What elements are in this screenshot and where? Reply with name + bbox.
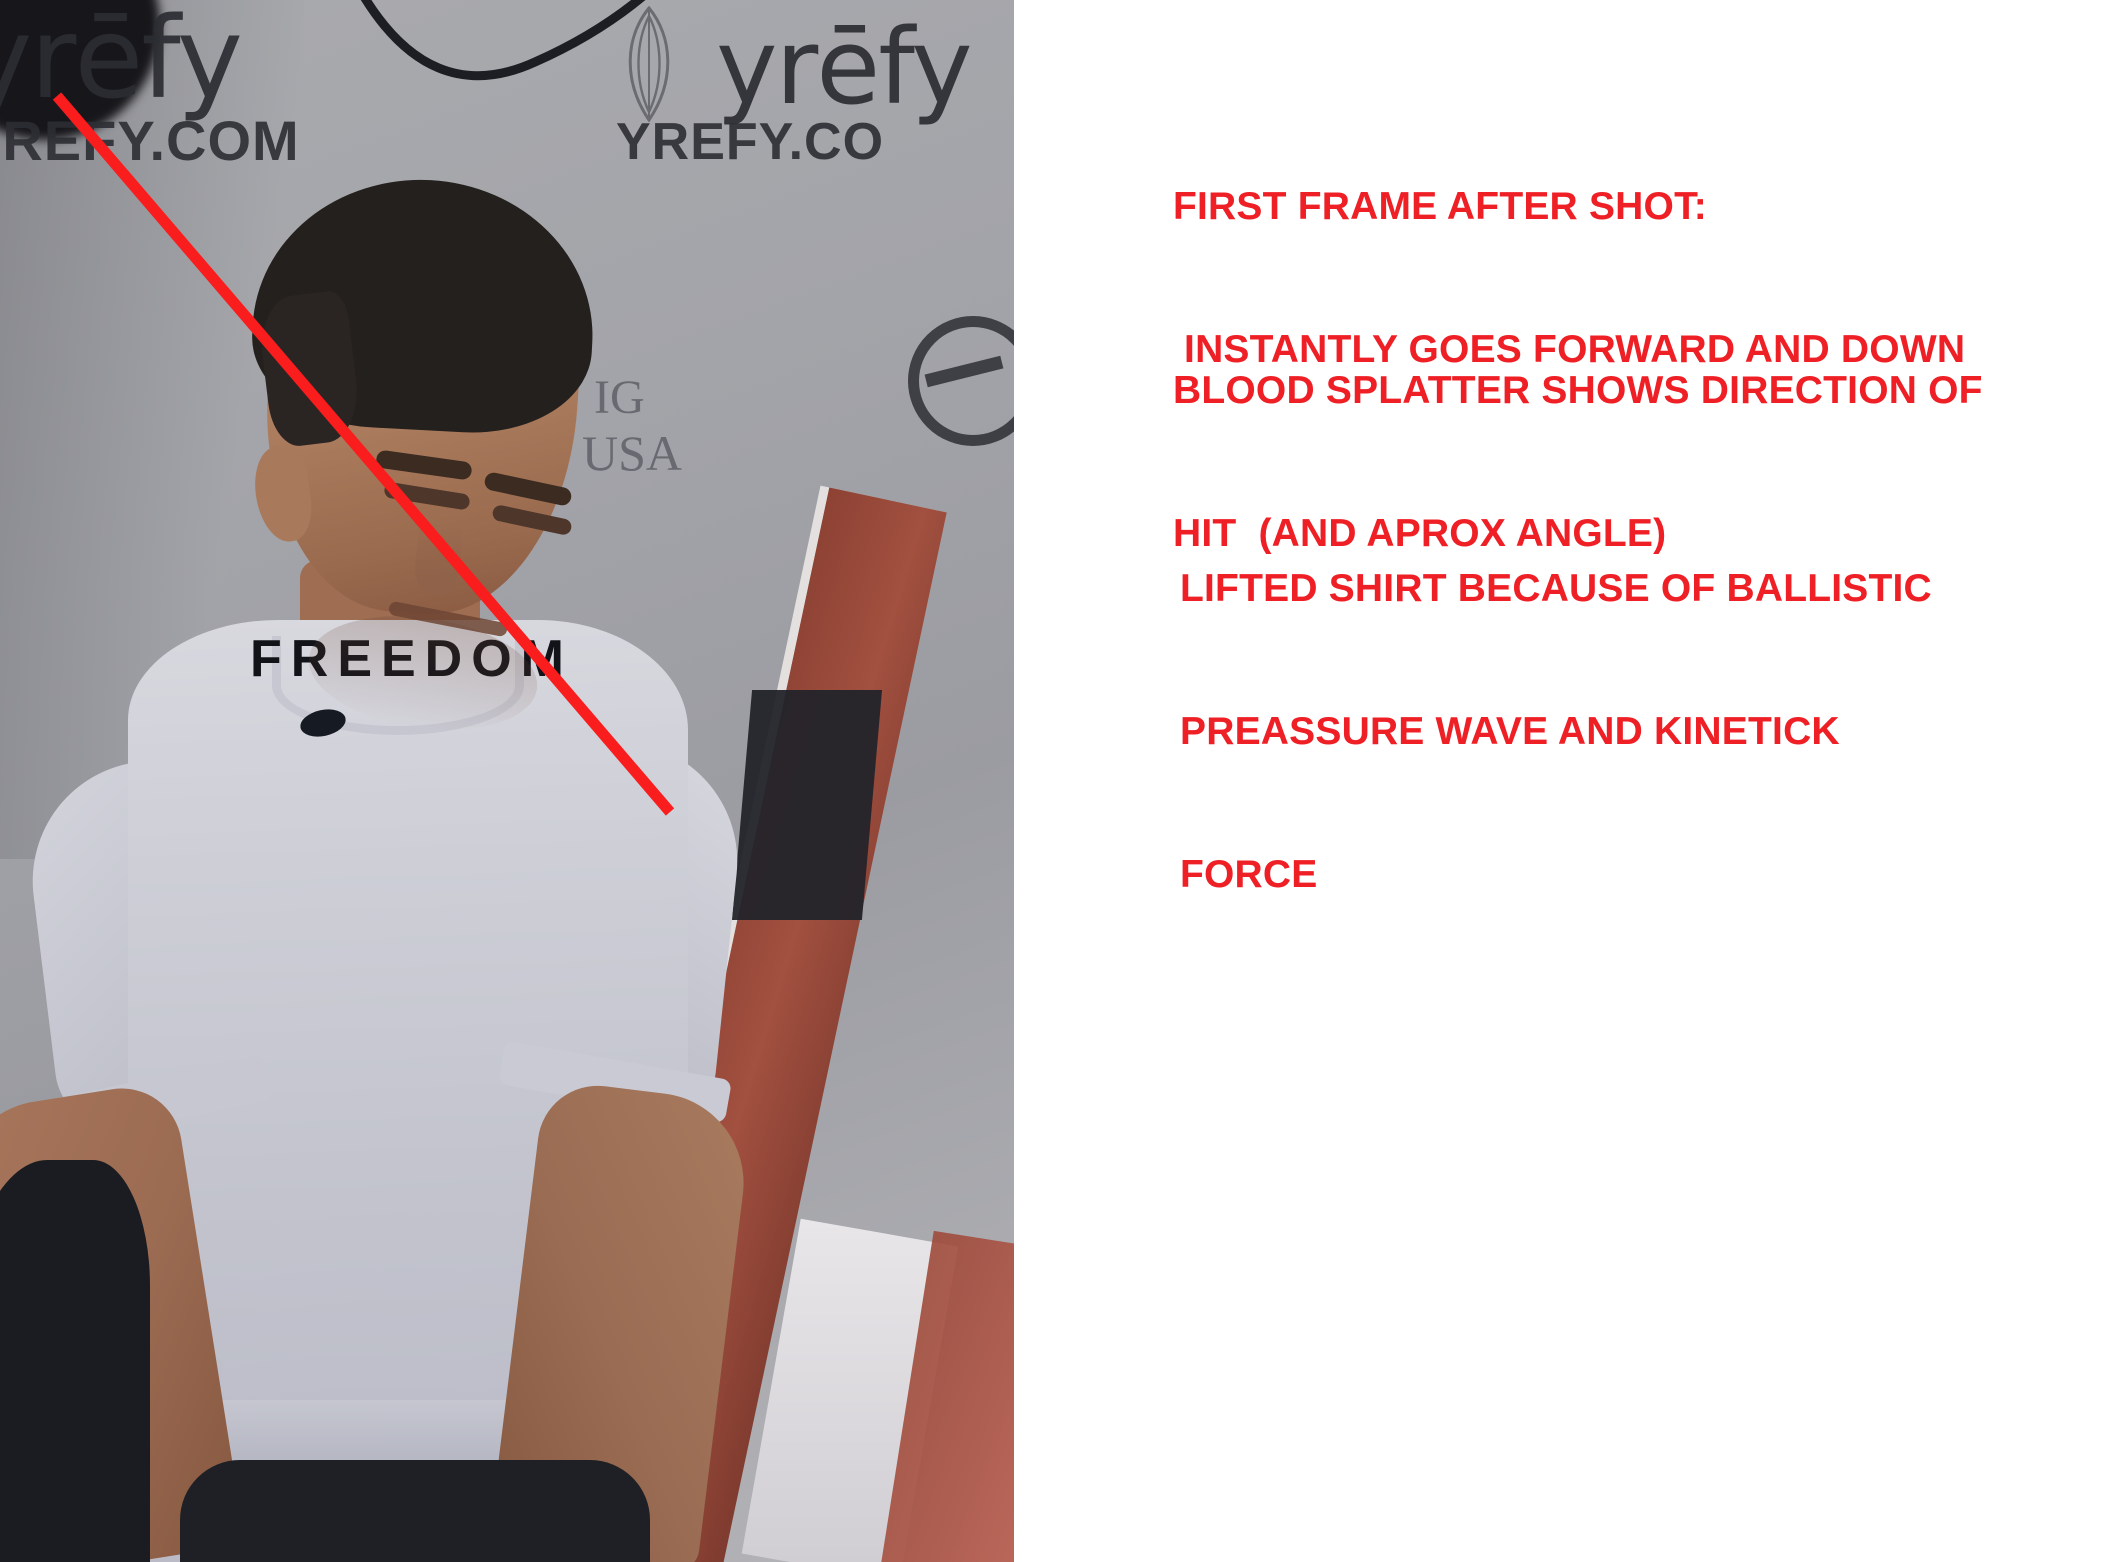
caption-line: PREASSURE WAVE AND KINETICK — [1180, 708, 1932, 756]
caption-line: BLOOD SPLATTER SHOWS DIRECTION OF — [1173, 367, 1983, 415]
caption-block-lifted-shirt: LIFTED SHIRT BECAUSE OF BALLISTIC PREASS… — [1180, 470, 1932, 993]
seated-person: FREEDOM — [0, 0, 1014, 1562]
foreground-dark-figure — [0, 1160, 150, 1562]
caption-line: FORCE — [1180, 851, 1932, 899]
caption-line: FIRST FRAME AFTER SHOT: — [1173, 183, 1965, 231]
annotation-text-panel: FIRST FRAME AFTER SHOT: INSTANTLY GOES F… — [1014, 0, 2121, 1562]
head — [248, 188, 598, 618]
hair — [248, 171, 601, 438]
caption-line: LIFTED SHIRT BECAUSE OF BALLISTIC — [1180, 565, 1932, 613]
lap-dark-pants — [180, 1460, 650, 1562]
annotated-frame-page: yrēfy YREFY.COM yrēfy YREFY.CO IG USA — [0, 0, 2121, 1562]
video-frame-photo: yrēfy YREFY.COM yrēfy YREFY.CO IG USA — [0, 0, 1014, 1562]
